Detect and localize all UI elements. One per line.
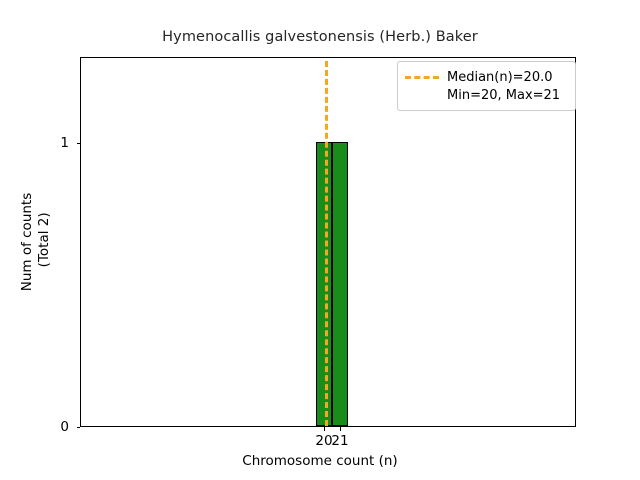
ytick-mark-0 [77, 427, 81, 428]
bar-21 [332, 142, 348, 426]
ytick-label-0: 0 [60, 419, 69, 435]
y-axis-label-container: Num of counts (Total 2) [26, 57, 46, 427]
legend-entry-minmax: Min=20, Max=21 [405, 86, 568, 104]
xtick-label-20: 20 [315, 433, 332, 449]
dashed-line-icon [405, 76, 439, 79]
bar-20 [316, 142, 332, 426]
ytick-mark-1 [77, 143, 81, 144]
plot-area [80, 57, 576, 427]
xtick-mark-21 [340, 427, 341, 431]
legend-entry-median: Median(n)=20.0 [405, 68, 568, 86]
chart-figure: Hymenocallis galvestonensis (Herb.) Bake… [0, 0, 640, 480]
legend-label-median: Median(n)=20.0 [447, 70, 553, 85]
median-line [325, 57, 328, 426]
legend-label-minmax: Min=20, Max=21 [447, 88, 560, 103]
ytick-label-1: 1 [60, 135, 69, 151]
x-axis-label: Chromosome count (n) [0, 453, 640, 469]
chart-title: Hymenocallis galvestonensis (Herb.) Bake… [0, 29, 640, 45]
xtick-mark-20 [324, 427, 325, 431]
legend: Median(n)=20.0 Min=20, Max=21 [397, 61, 576, 111]
xtick-label-21: 21 [331, 433, 348, 449]
y-axis-label: Num of counts (Total 2) [19, 193, 53, 292]
